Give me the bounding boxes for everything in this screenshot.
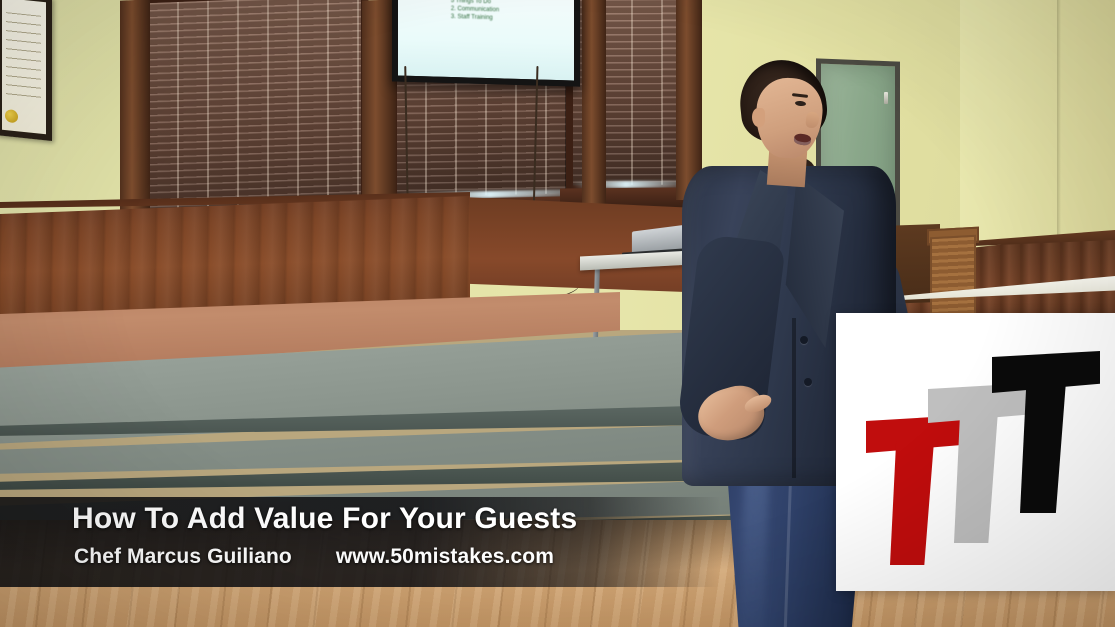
logo-t-black: [992, 351, 1100, 503]
blazer-button: [804, 378, 812, 386]
slide-line-3: 3. Staff Training: [451, 13, 557, 24]
presenter-ear: [752, 108, 765, 127]
website-url: www.50mistakes.com: [336, 545, 554, 569]
blazer-button: [800, 336, 808, 344]
blazer-front-opening: [792, 318, 796, 478]
projection-screen: 5 Things To Do 2. Communication 3. Staff…: [392, 0, 580, 87]
window-mullion: [120, 0, 150, 233]
framed-certificate: [0, 0, 52, 141]
certificate-text-lines: [6, 12, 41, 102]
screen-surface: 5 Things To Do 2. Communication 3. Staff…: [398, 0, 574, 80]
window-mullion: [362, 0, 396, 224]
logo-card: [836, 313, 1115, 591]
lower-third-title: How To Add Value For Your Guests: [72, 502, 712, 536]
logo-t-black-stem: [1020, 381, 1066, 513]
window-mullion: [582, 0, 606, 206]
slide-text: 5 Things To Do 2. Communication 3. Staff…: [451, 0, 557, 24]
video-frame: 5 Things To Do 2. Communication 3. Staff…: [0, 0, 1115, 627]
presenter-name: Chef Marcus Guiliano: [74, 545, 292, 569]
lower-third-subtitle-row: Chef Marcus Guiliano www.50mistakes.com: [74, 545, 714, 569]
certificate-seal-icon: [5, 109, 18, 123]
triple-t-logo-icon: [856, 343, 1096, 563]
